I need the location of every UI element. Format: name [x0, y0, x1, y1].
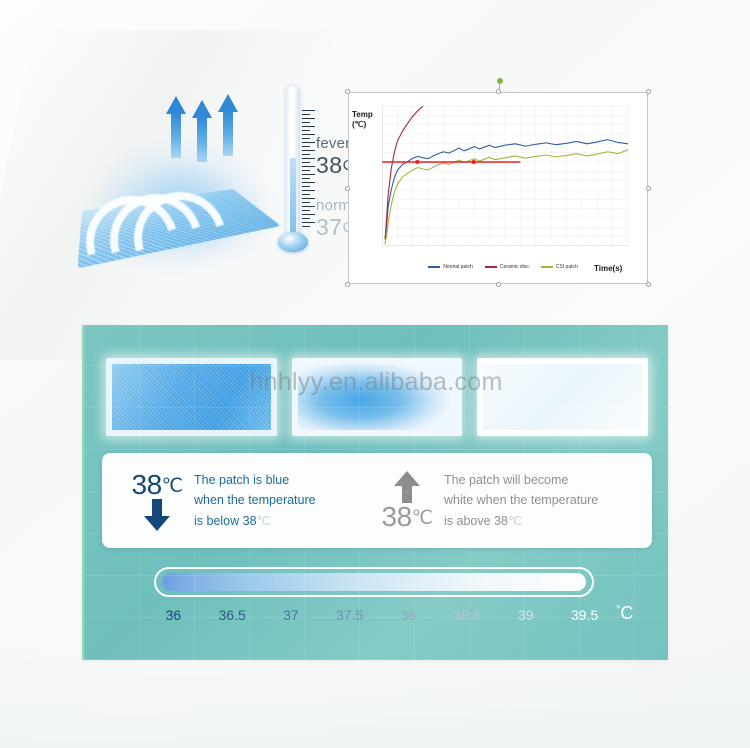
below-line-1: The patch is blue — [194, 470, 316, 490]
scale-label-37: 37 — [262, 607, 321, 623]
rotate-handle[interactable] — [497, 78, 503, 84]
resize-handle-bottom-right[interactable] — [646, 282, 651, 287]
below-threshold-text: The patch is blue when the temperature i… — [194, 470, 316, 531]
resize-handle-top-left[interactable] — [345, 89, 350, 94]
cooling-patch-illustration: fever 38C normal 37C — [78, 78, 328, 278]
legend-item: Normal patch — [428, 264, 473, 270]
resize-handle-bottom-center[interactable] — [496, 282, 501, 287]
gradient-fill — [162, 573, 586, 591]
scale-label-38: 38 — [379, 607, 438, 623]
above-threshold-indicator: 38℃ — [370, 471, 444, 531]
temperature-gradient-bar — [154, 567, 594, 597]
thermometer-icon — [278, 86, 308, 264]
legend-label: Ceramic disc — [500, 264, 529, 270]
resize-handle-top-center[interactable] — [496, 89, 501, 94]
x-axis-title: Time(s) — [594, 264, 622, 274]
resize-handle-top-right[interactable] — [646, 89, 651, 94]
heat-arrow-up-icon — [218, 94, 238, 156]
legend-label: Normal patch — [443, 264, 473, 270]
arrow-down-icon — [144, 499, 170, 531]
above-line-1: The patch will become — [444, 470, 598, 490]
below-line-2: when the temperature — [194, 490, 316, 510]
explanation-card: 38℃ The patch is blue when the temperatu… — [102, 453, 652, 548]
y-axis-title: Temp(℃) — [352, 110, 373, 130]
legend-item: CSI patch — [541, 264, 578, 270]
legend-swatch — [428, 266, 440, 268]
swatch-white — [477, 358, 648, 436]
below-threshold-block: 38℃ The patch is blue when the temperatu… — [102, 453, 370, 548]
above-threshold-temp: 38℃ — [382, 503, 433, 531]
arrow-up-icon — [394, 471, 420, 503]
below-threshold-indicator: 38℃ — [120, 471, 194, 531]
above-line-2: white when the temperature — [444, 490, 598, 510]
chart-plot-area: 2022242628303234363840424446485003006009… — [382, 106, 628, 246]
patch-swatch-row — [106, 358, 648, 436]
swatch-medium-blue — [292, 358, 463, 436]
scale-label-36-5: 36.5 — [203, 607, 262, 623]
below-line-3: is below 38℃ — [194, 511, 316, 531]
product-info-panel: hnhlyy.en.alibaba.com 38℃ The patch is b… — [82, 325, 668, 660]
legend-item: Ceramic disc — [485, 264, 529, 270]
scale-label-39-5: 39.5 — [555, 607, 614, 623]
scale-label-38-5: 38.5 — [438, 607, 497, 623]
scale-label-39: 39 — [497, 607, 556, 623]
above-threshold-text: The patch will become white when the tem… — [444, 470, 598, 531]
celsius-unit-label: °C — [616, 603, 633, 624]
swatch-dark-blue — [106, 358, 277, 436]
above-line-3: is above 38℃ — [444, 511, 598, 531]
below-threshold-temp: 38℃ — [132, 471, 183, 499]
temperature-chart-object[interactable]: Temp(℃) Time(s) 202224262830323436384042… — [348, 92, 648, 284]
resize-handle-middle-left[interactable] — [345, 186, 350, 191]
resize-handle-bottom-left[interactable] — [345, 282, 350, 287]
heat-arrow-up-icon — [192, 100, 212, 162]
legend-swatch — [541, 266, 553, 268]
scale-label-37-5: 37.5 — [320, 607, 379, 623]
temperature-scale-labels: 3636.53737.53838.53939.5 — [144, 607, 614, 623]
legend-swatch — [485, 266, 497, 268]
legend-label: CSI patch — [556, 264, 578, 270]
heat-arrow-up-icon — [166, 96, 186, 158]
resize-handle-middle-right[interactable] — [646, 186, 651, 191]
scale-label-36: 36 — [144, 607, 203, 623]
chart-legend: Normal patchCeramic discCSI patch — [408, 264, 598, 270]
above-threshold-block: 38℃ The patch will become white when the… — [370, 453, 652, 548]
